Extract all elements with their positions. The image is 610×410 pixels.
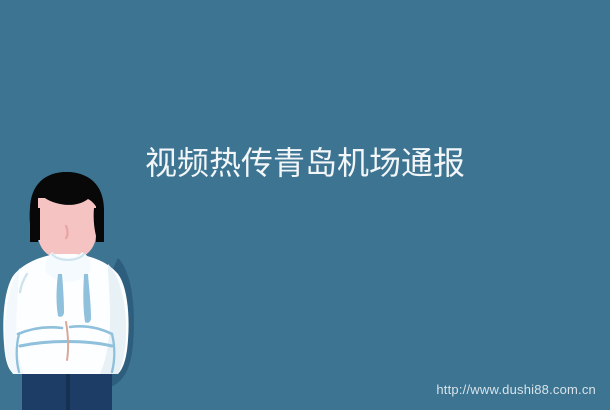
watermark-url: http://www.dushi88.com.cn [436, 382, 596, 398]
pants-gap [66, 374, 70, 410]
page-title: 视频热传青岛机场通报 [0, 144, 610, 182]
image-canvas: 视频热传青岛机场通报 http://www.dushi88.com.cn [0, 0, 610, 410]
person-illustration [0, 168, 150, 410]
